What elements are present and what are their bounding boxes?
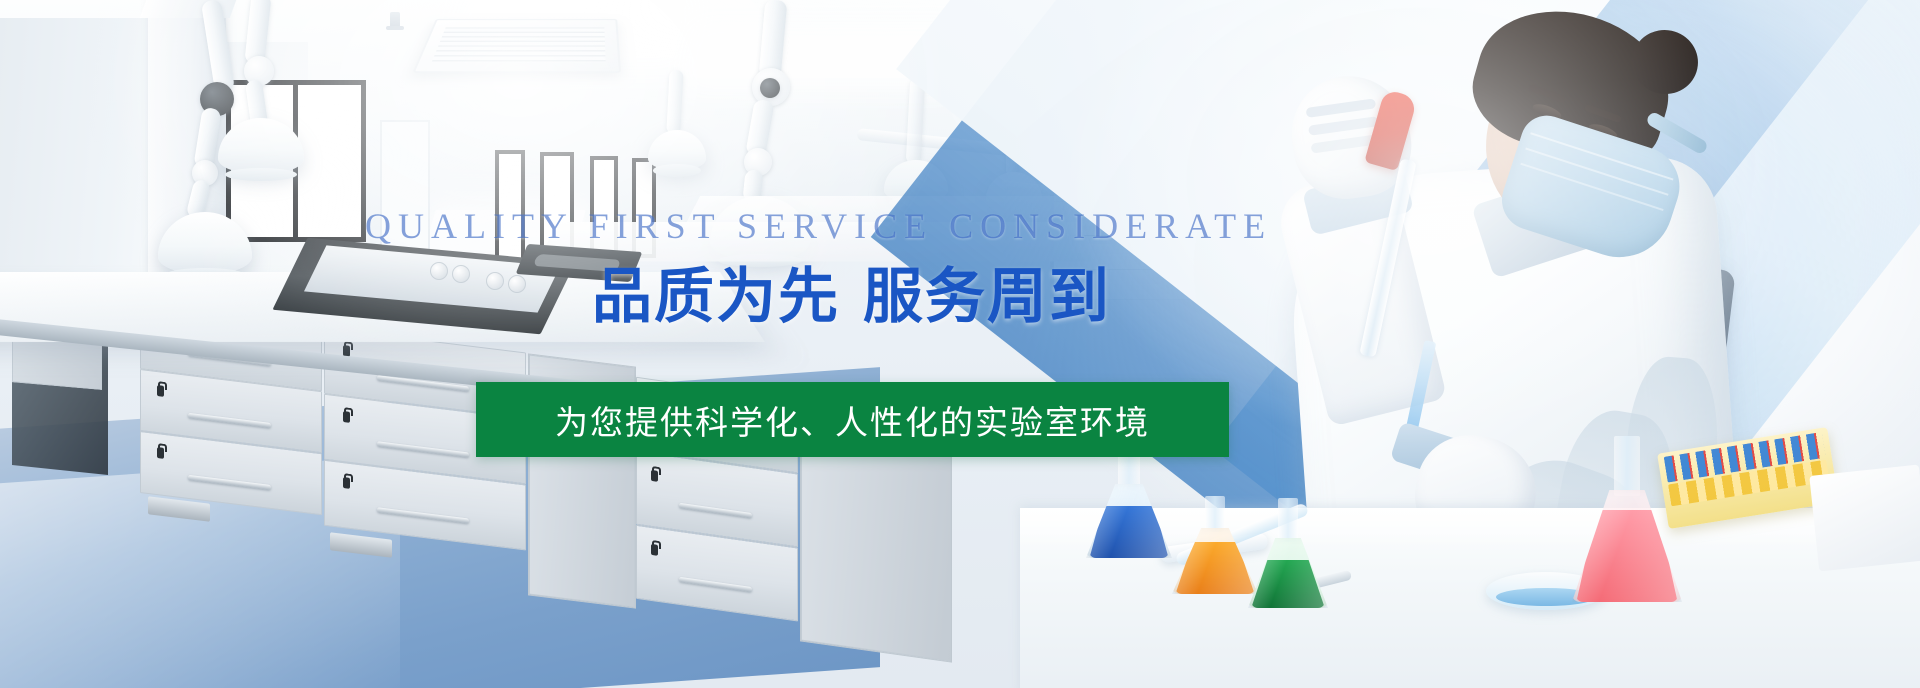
banner-tagline-text: 为您提供科学化、人性化的实验室环境 <box>555 396 1150 444</box>
banner-headline: 品质为先 服务周到 <box>592 248 1111 335</box>
lab-hero-banner: QUALITY FIRST SERVICE CONSIDERATE 品质为先 服… <box>0 0 1920 688</box>
banner-text-overlay: QUALITY FIRST SERVICE CONSIDERATE 品质为先 服… <box>0 0 1920 688</box>
banner-tagline-bar: 为您提供科学化、人性化的实验室环境 <box>476 382 1229 457</box>
banner-eyebrow-text: QUALITY FIRST SERVICE CONSIDERATE <box>365 205 1272 247</box>
